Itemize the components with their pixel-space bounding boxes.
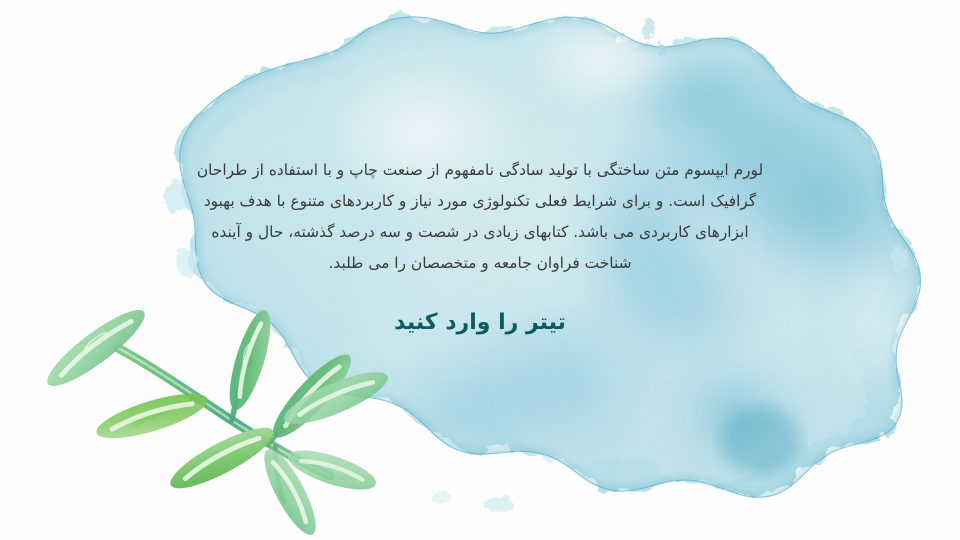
leaf xyxy=(164,418,281,499)
body-line: ابزارهای کاربردی می باشد. کتابهای زیادی … xyxy=(130,217,830,248)
leaf xyxy=(264,346,361,447)
body-paragraph: لورم ایپسوم متن ساختگی با تولید سادگی نا… xyxy=(130,155,830,279)
body-line: لورم ایپسوم متن ساختگی با تولید سادگی نا… xyxy=(130,155,830,186)
body-line: گرافیک است. و برای شرایط فعلی تکنولوژی م… xyxy=(130,186,830,217)
leaf-branch xyxy=(39,300,393,540)
body-line: شناخت فراوان جامعه و متخصصان را می طلبد. xyxy=(130,248,830,279)
leaf xyxy=(284,442,380,497)
leaf xyxy=(255,443,325,540)
leaf xyxy=(92,385,212,448)
leaf xyxy=(279,362,394,433)
slide-heading: تیتر را وارد کنید xyxy=(130,310,830,335)
slide-canvas: لورم ایپسوم متن ساختگی با تولید سادگی نا… xyxy=(0,0,960,540)
